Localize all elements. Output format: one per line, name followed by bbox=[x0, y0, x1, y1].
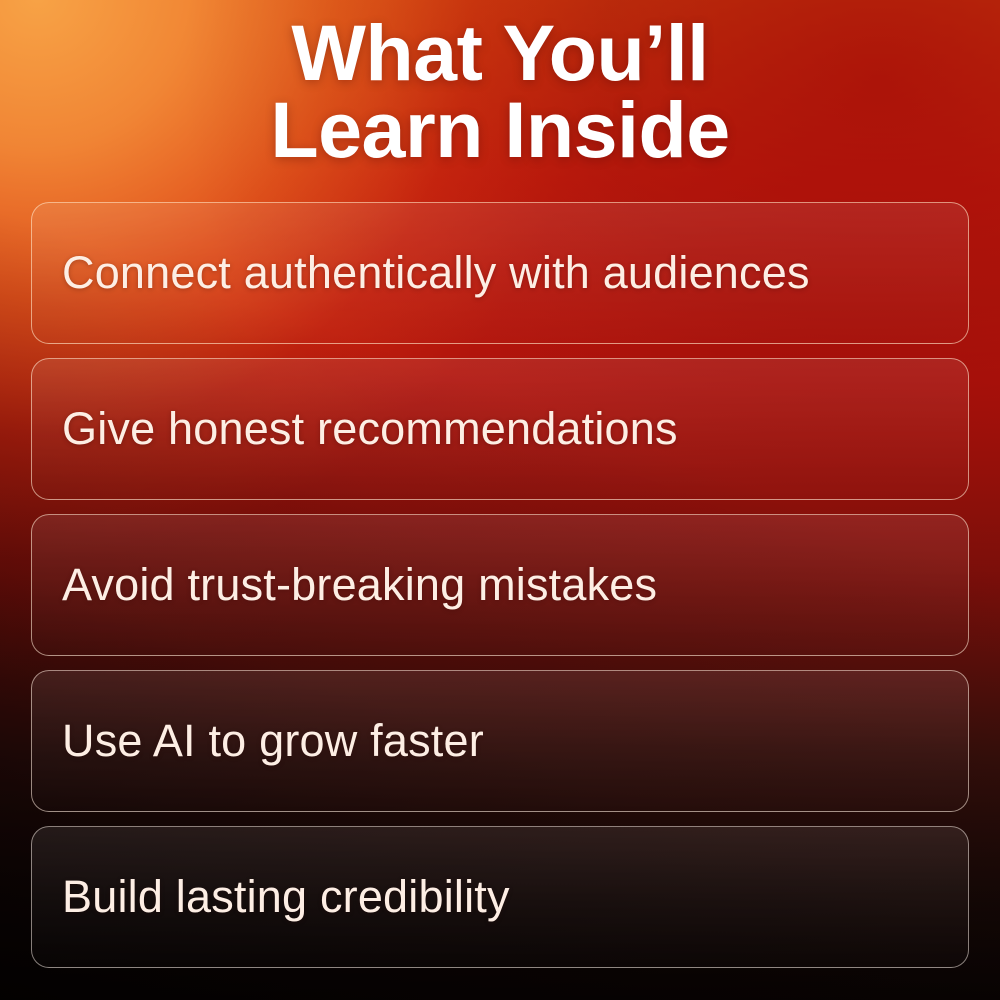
page-title-line-1: What You’ll bbox=[0, 14, 1000, 91]
learning-points-list: Connect authentically with audiences Giv… bbox=[31, 202, 969, 968]
list-item-label: Use AI to grow faster bbox=[62, 717, 484, 764]
learn-inside-poster: What You’ll Learn Inside Connect authent… bbox=[0, 0, 1000, 1000]
list-item: Connect authentically with audiences bbox=[31, 202, 969, 344]
list-item: Avoid trust-breaking mistakes bbox=[31, 514, 969, 656]
list-item-label: Give honest recommendations bbox=[62, 405, 678, 452]
page-title-line-2: Learn Inside bbox=[0, 91, 1000, 168]
list-item-label: Avoid trust-breaking mistakes bbox=[62, 561, 657, 608]
list-item-label: Connect authentically with audiences bbox=[62, 249, 810, 296]
page-title: What You’ll Learn Inside bbox=[0, 0, 1000, 169]
list-item: Give honest recommendations bbox=[31, 358, 969, 500]
list-item: Use AI to grow faster bbox=[31, 670, 969, 812]
list-item: Build lasting credibility bbox=[31, 826, 969, 968]
list-item-label: Build lasting credibility bbox=[62, 873, 510, 920]
